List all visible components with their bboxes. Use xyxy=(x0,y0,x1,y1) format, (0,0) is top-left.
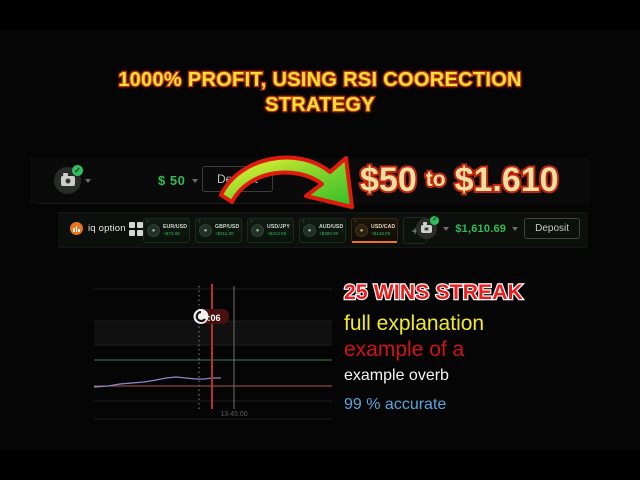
timer-badge: :06 xyxy=(194,309,230,324)
green-check-icon: ✓ xyxy=(72,165,83,176)
asset-tabs: × ● EUR/USD +$74.00 × ● GBP/USD +$111.00 xyxy=(143,217,427,244)
headline-title: 1000% PROFIT, USING RSI COORECTION STRAT… xyxy=(0,68,640,118)
chevron-down-icon[interactable] xyxy=(443,227,449,231)
money-banner: $50 to $1.610 xyxy=(360,158,620,202)
iq-option-toolbar: iq option × ● EUR/USD +$74.00 × ● xyxy=(58,212,588,248)
chevron-down-icon[interactable] xyxy=(192,179,198,183)
headline-line-1: 1000% PROFIT, USING RSI COORECTION xyxy=(0,68,640,93)
asset-icon: ● xyxy=(147,224,160,237)
arrow-shape xyxy=(221,158,352,207)
timer-value: :06 xyxy=(207,313,220,323)
asset-icon: ● xyxy=(303,224,316,237)
asset-pair: EUR/USD xyxy=(163,225,187,230)
asset-icon: ● xyxy=(199,224,212,237)
asset-icon: ● xyxy=(251,224,264,237)
asset-tab-audusd[interactable]: × ● AUD/USD +$300.00 xyxy=(299,218,346,243)
deposit-button[interactable]: Deposit xyxy=(524,218,580,239)
chart-background xyxy=(86,276,332,424)
close-icon[interactable]: × xyxy=(354,220,357,225)
close-icon[interactable]: × xyxy=(302,220,305,225)
money-from: $50 xyxy=(360,160,417,200)
chart-timestamp: 13 45:00 xyxy=(220,411,247,418)
iq-option-logo-icon xyxy=(70,222,83,235)
chevron-down-icon[interactable] xyxy=(85,179,91,183)
close-icon[interactable]: × xyxy=(250,220,253,225)
avatar[interactable]: ✓ xyxy=(54,167,91,194)
grid-squares-icon[interactable] xyxy=(129,222,143,236)
money-to: $1.610 xyxy=(455,160,559,200)
asset-value: +$148.00 xyxy=(371,232,395,237)
balance-small[interactable]: $ 50 xyxy=(158,173,198,188)
price-chart[interactable]: :06 13 45:00 xyxy=(86,276,332,424)
asset-tab-gbpusd[interactable]: × ● GBP/USD +$111.00 xyxy=(195,218,242,243)
balance-small-value: $ 50 xyxy=(158,173,185,188)
asset-tab-usdcad[interactable]: × ● USD/CAD +$148.00 xyxy=(351,218,398,243)
account-area: ✓ $1,610.69 Deposit xyxy=(416,218,580,239)
caption-wins-streak: 25 WINS STREAK xyxy=(344,280,624,306)
caption-example-of-a: example of a xyxy=(344,337,624,363)
iq-option-logo-label: iq option xyxy=(88,223,126,234)
asset-value: +$300.00 xyxy=(319,232,343,237)
close-icon[interactable]: × xyxy=(146,220,149,225)
asset-tab-usdjpy[interactable]: × ● USD/JPY +$312.50 xyxy=(247,218,294,243)
asset-value: +$111.00 xyxy=(215,232,239,237)
asset-tab-eurusd[interactable]: × ● EUR/USD +$74.00 xyxy=(143,218,190,243)
caption-example-overb: example overb xyxy=(344,365,624,387)
headline-line-2: STRATEGY xyxy=(0,93,640,118)
chevron-down-icon[interactable] xyxy=(512,227,518,231)
screenshot-root: 1000% PROFIT, USING RSI COORECTION STRAT… xyxy=(0,0,640,480)
curved-down-right-arrow xyxy=(218,148,370,216)
camera-glyph xyxy=(61,176,75,186)
money-connector: to xyxy=(426,160,446,200)
camera-avatar-icon[interactable]: ✓ xyxy=(416,218,437,239)
asset-pair: USD/CAD xyxy=(371,225,395,230)
asset-pair: AUD/USD xyxy=(319,225,343,230)
asset-icon: ● xyxy=(355,224,368,237)
green-check-icon: ✓ xyxy=(430,216,439,225)
camera-avatar-icon[interactable]: ✓ xyxy=(54,167,81,194)
close-icon[interactable]: × xyxy=(198,220,201,225)
asset-value: +$312.50 xyxy=(267,232,290,237)
caption-full-explanation: full explanation xyxy=(344,310,624,337)
asset-value: +$74.00 xyxy=(163,232,187,237)
caption-accuracy: 99 % accurate xyxy=(344,393,624,417)
iq-option-logo[interactable]: iq option xyxy=(70,222,126,235)
caption-block: 25 WINS STREAK full explanation example … xyxy=(344,280,624,417)
camera-glyph xyxy=(421,225,432,233)
asset-pair: USD/JPY xyxy=(267,225,290,230)
asset-pair: GBP/USD xyxy=(215,225,239,230)
video-frame: 1000% PROFIT, USING RSI COORECTION STRAT… xyxy=(0,30,640,450)
account-balance[interactable]: $1,610.69 xyxy=(455,223,506,235)
